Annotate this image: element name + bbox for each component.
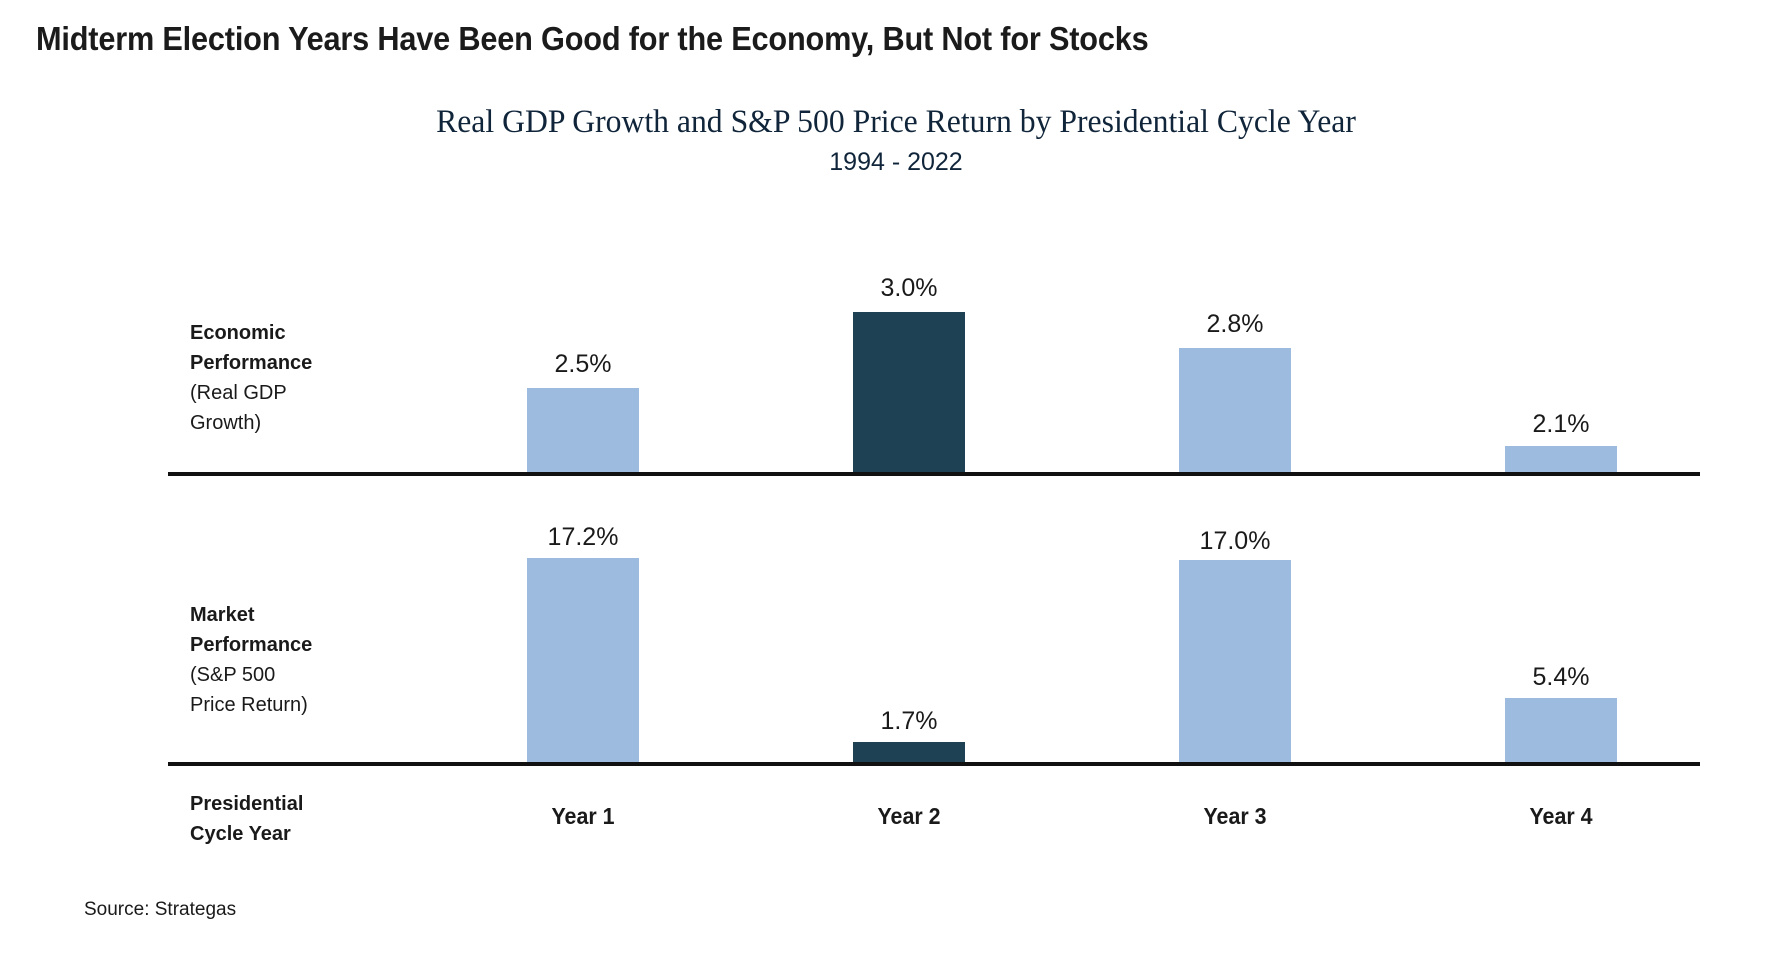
category-label-year1: Year 1 — [471, 803, 694, 830]
bar-market-year2[interactable] — [853, 742, 965, 762]
bar-economic-year2[interactable] — [853, 312, 965, 472]
panel-market-performance: 17.2% 1.7% 17.0% 5.4% — [0, 495, 1792, 762]
chart-plot-area: Economic Performance (Real GDP Growth) 2… — [0, 0, 1792, 958]
row-label-axis: Presidential Cycle Year — [190, 789, 420, 849]
bar-market-year4[interactable] — [1505, 698, 1617, 762]
bar-value-market-year1: 17.2% — [483, 523, 683, 552]
bar-economic-year4[interactable] — [1505, 446, 1617, 472]
category-label-year2: Year 2 — [797, 803, 1020, 830]
bar-value-market-year2: 1.7% — [809, 707, 1009, 736]
bar-economic-year3[interactable] — [1179, 348, 1291, 472]
bar-value-economic-year4: 2.1% — [1461, 410, 1661, 439]
bar-value-economic-year1: 2.5% — [483, 350, 683, 379]
panel-economic-performance: 2.5% 3.0% 2.8% 2.1% — [0, 218, 1792, 472]
bar-value-economic-year3: 2.8% — [1135, 310, 1335, 339]
bar-economic-year1[interactable] — [527, 388, 639, 472]
axis-line-economic — [168, 472, 1700, 476]
bar-market-year3[interactable] — [1179, 560, 1291, 762]
bar-value-market-year3: 17.0% — [1135, 527, 1335, 556]
source-note: Source: Strategas — [84, 899, 236, 921]
row-label-axis-line2: Cycle Year — [190, 819, 420, 849]
bar-value-economic-year2: 3.0% — [809, 274, 1009, 303]
bar-market-year1[interactable] — [527, 558, 639, 762]
axis-line-market — [168, 762, 1700, 766]
row-label-axis-line1: Presidential — [190, 789, 420, 819]
category-label-year3: Year 3 — [1123, 803, 1346, 830]
category-label-year4: Year 4 — [1449, 803, 1672, 830]
bar-value-market-year4: 5.4% — [1461, 663, 1661, 692]
